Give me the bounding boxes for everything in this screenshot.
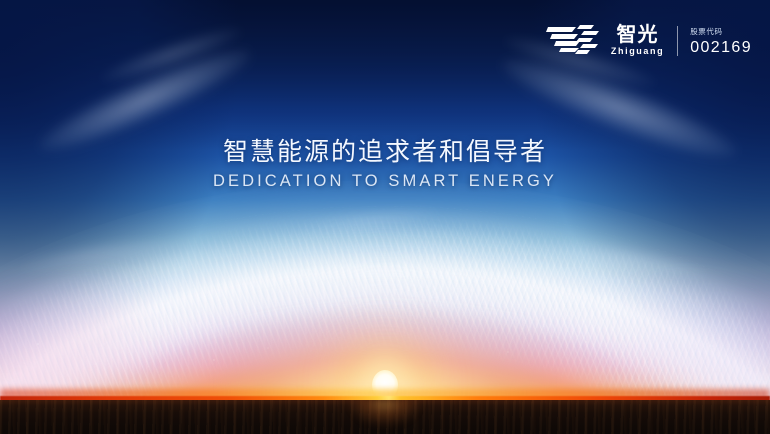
tagline-chinese: 智慧能源的追求者和倡导者 xyxy=(0,138,770,168)
stock-code-label: 股票代码 xyxy=(690,26,752,37)
stock-code-value: 002169 xyxy=(690,40,752,56)
brand-divider xyxy=(677,26,678,56)
hero-banner: 智慧能源的追求者和倡导者 DEDICATION TO SMART ENERGY xyxy=(0,0,770,434)
brand-name-chinese: 智光 xyxy=(617,25,659,45)
zhiguang-logo-mark-icon xyxy=(546,21,602,60)
tagline-block: 智慧能源的追求者和倡导者 DEDICATION TO SMART ENERGY xyxy=(0,138,770,191)
stock-info-block: 股票代码 002169 xyxy=(690,26,752,56)
brand-name-pinyin: Zhiguang xyxy=(611,47,664,56)
tagline-english: DEDICATION TO SMART ENERGY xyxy=(0,172,770,192)
brand-name-block: 智光 Zhiguang xyxy=(611,25,664,56)
sun-reflection xyxy=(325,400,445,434)
brand-lockup: 智光 Zhiguang 股票代码 002169 xyxy=(546,21,752,60)
